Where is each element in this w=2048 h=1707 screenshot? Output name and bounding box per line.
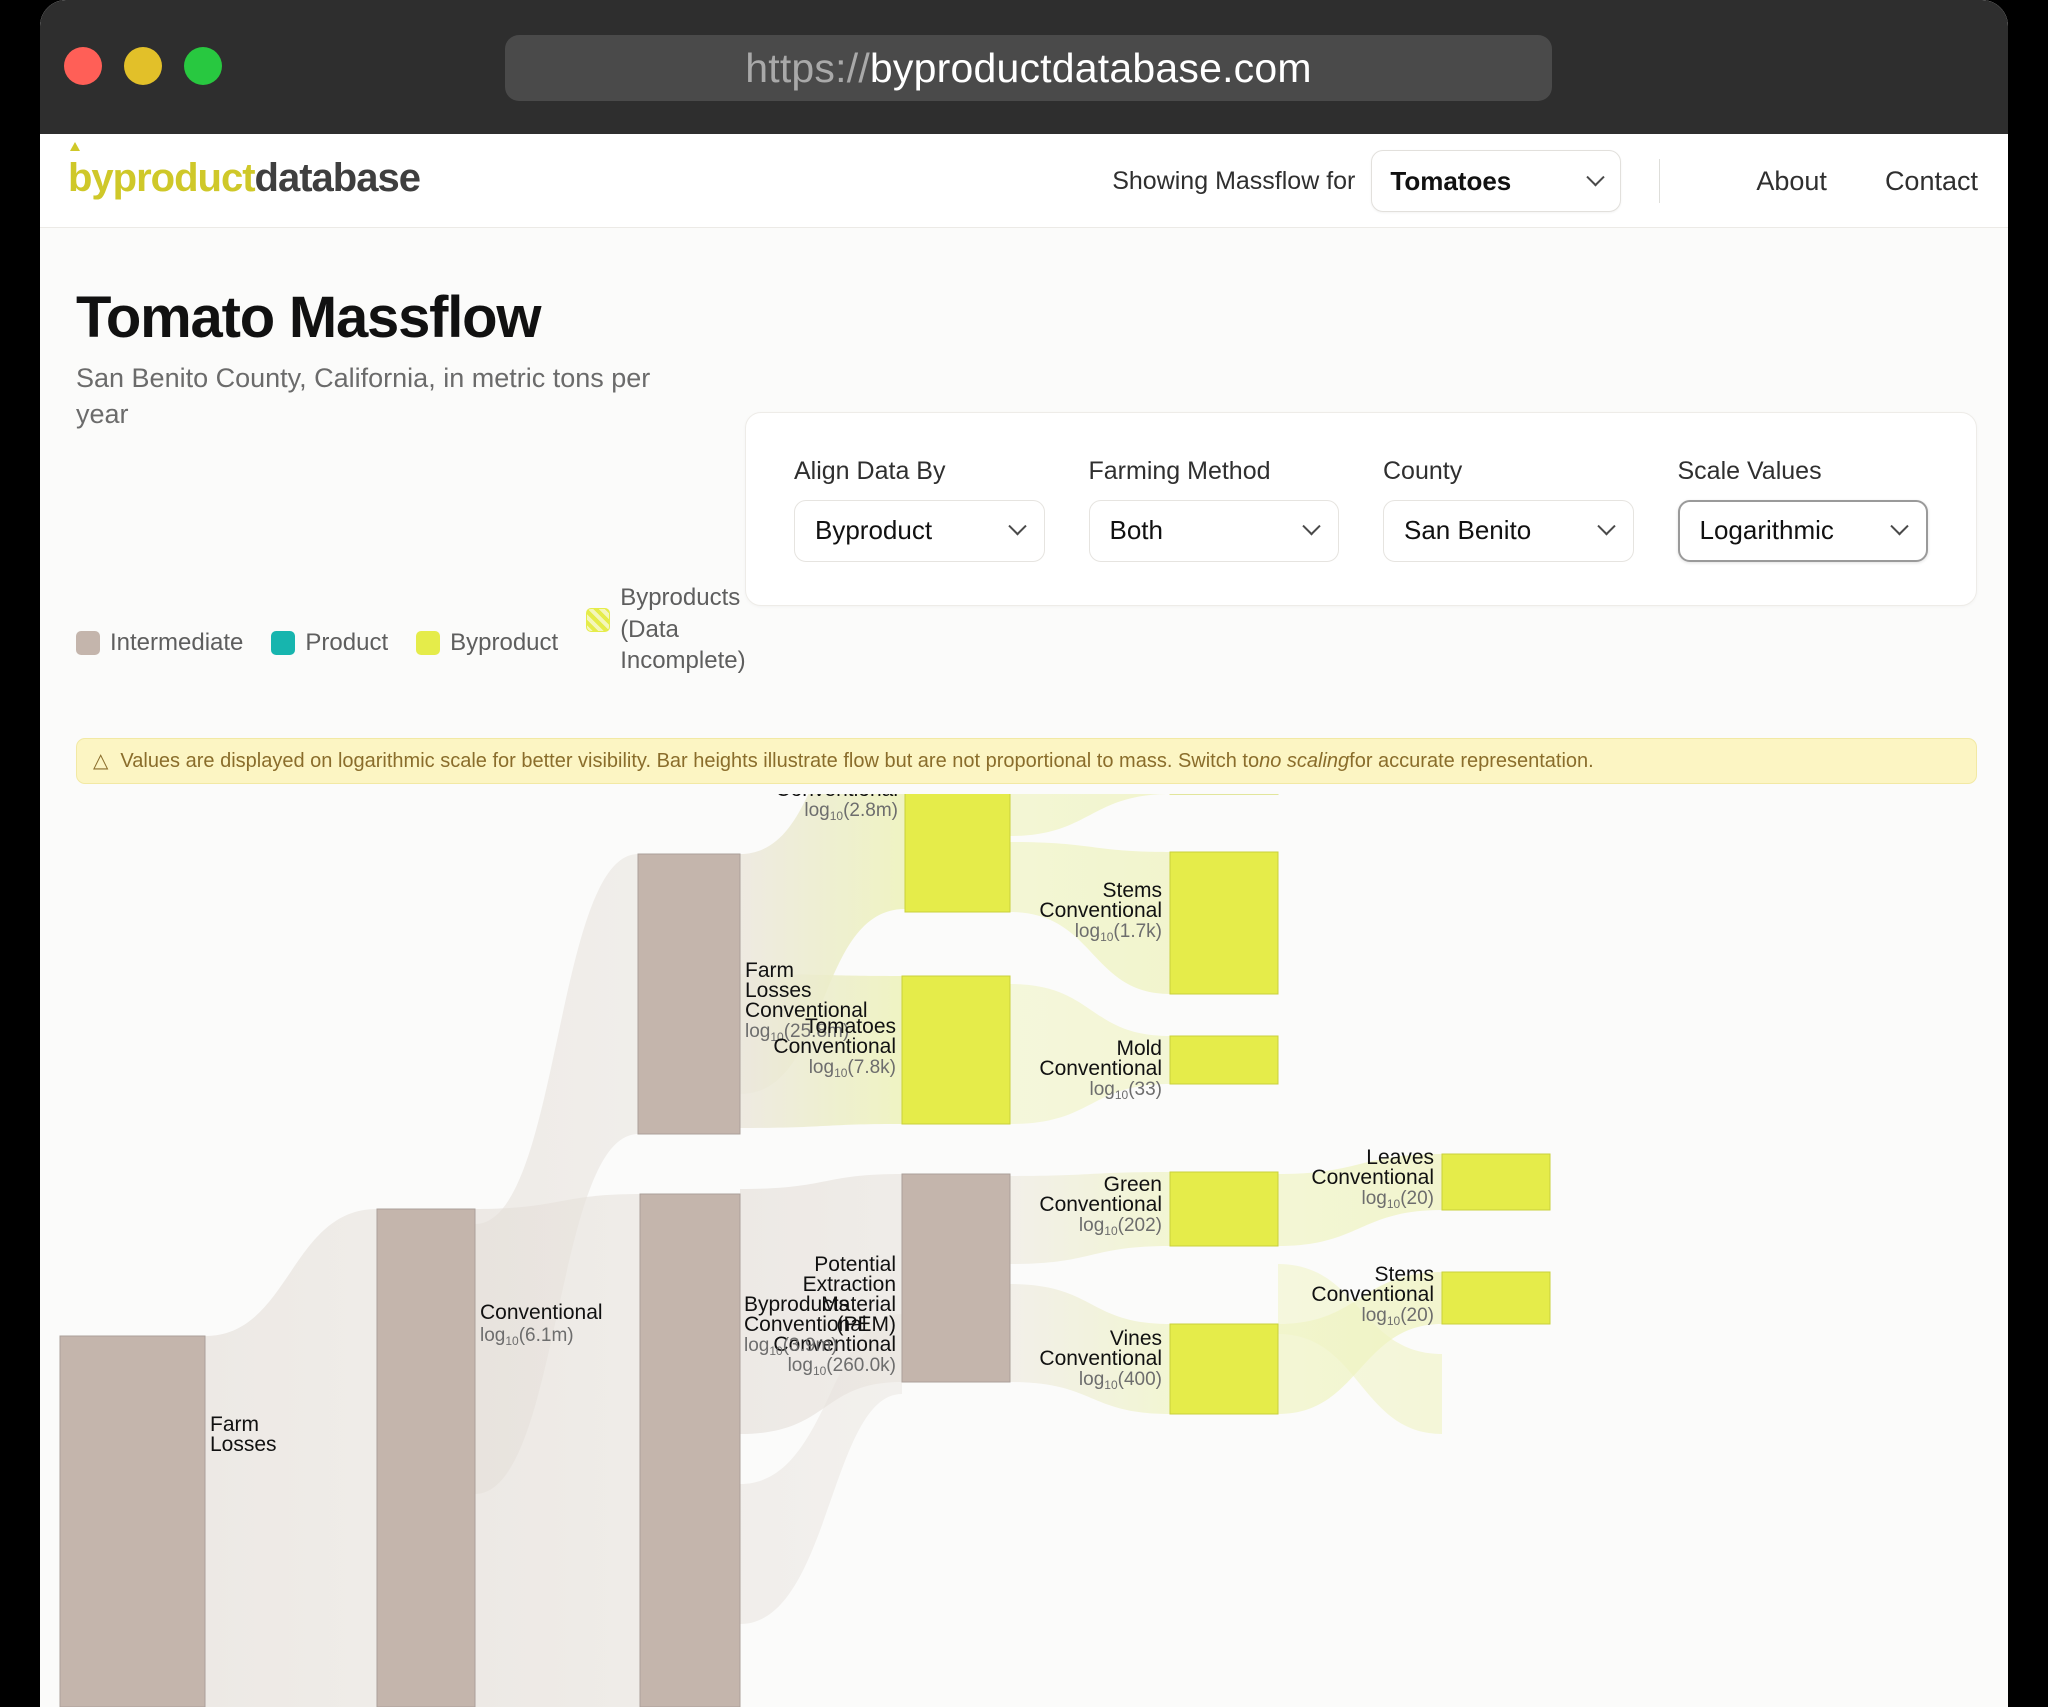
- legend-label-intermediate: Intermediate: [110, 629, 243, 657]
- chart-legend: Intermediate Product Byproduct Byproduct…: [76, 608, 770, 677]
- sankey-link: [205, 1209, 377, 1707]
- filter-align-data-by: Align Data By Byproduct: [794, 457, 1045, 562]
- node-label-tomatoes-line2: Conventional: [773, 1035, 896, 1058]
- legend-item-product: Product: [271, 629, 388, 657]
- minimize-button[interactable]: [124, 47, 162, 85]
- legend-label-byproduct: Byproduct: [450, 629, 558, 657]
- sankey-node-tomatoes-conventional[interactable]: [902, 976, 1010, 1124]
- node-label-stems-right-line2: Conventional: [1311, 1283, 1434, 1306]
- nav-link-about[interactable]: About: [1756, 166, 1827, 197]
- sankey-node-green-conventional[interactable]: [1170, 1172, 1278, 1246]
- sankey-node-vines-conventional-top[interactable]: [905, 794, 1010, 912]
- showing-massflow-label: Showing Massflow for: [1112, 167, 1355, 196]
- site-logo[interactable]: byproductdatabase: [68, 156, 420, 201]
- page-title: Tomato Massflow: [76, 284, 696, 351]
- chevron-down-icon: [1890, 517, 1908, 535]
- filter-value-county: San Benito: [1404, 515, 1531, 546]
- legend-swatch-product: [271, 631, 295, 655]
- url-host: byproductdatabase.com: [870, 45, 1312, 92]
- legend-label-byproducts-incomplete: Byproducts (Data Incomplete): [620, 582, 742, 677]
- legend-label-product: Product: [305, 629, 388, 657]
- node-label-stems-top-line2: Conventional: [1039, 899, 1162, 922]
- sankey-node-byproducts-conventional[interactable]: [640, 1194, 740, 1707]
- legend-swatch-byproduct: [416, 631, 440, 655]
- logo-arrow-icon: [70, 142, 80, 151]
- filter-select-align-data-by[interactable]: Byproduct: [794, 500, 1045, 562]
- legend-swatch-byproducts-incomplete: [586, 608, 610, 632]
- header-nav: Showing Massflow for Tomatoes About Cont…: [1112, 134, 1978, 228]
- sankey-svg: Vines Conventional log10(2.8m) Leaves Co…: [40, 794, 2008, 1707]
- filter-label-scale-values: Scale Values: [1678, 457, 1929, 486]
- node-value-green: log10(202): [1079, 1215, 1162, 1238]
- nav-link-contact[interactable]: Contact: [1885, 166, 1978, 197]
- node-value-stems-top: log10(1.7k): [1075, 921, 1162, 944]
- node-label-vines-bot-line2: Conventional: [1039, 1347, 1162, 1370]
- node-label-conventional-line1: Conventional: [480, 1301, 603, 1324]
- filter-label-farming-method: Farming Method: [1089, 457, 1340, 486]
- product-select-value: Tomatoes: [1390, 166, 1511, 197]
- nav-divider: [1659, 159, 1660, 203]
- site-header: byproductdatabase Showing Massflow for T…: [40, 134, 2008, 228]
- page-content: byproductdatabase Showing Massflow for T…: [40, 134, 2008, 1707]
- sankey-node-conventional[interactable]: [377, 1209, 475, 1707]
- sankey-node-stems-conventional-top[interactable]: [1170, 852, 1278, 994]
- node-label-byproducts-line2: Conventional: [744, 1313, 867, 1336]
- product-select[interactable]: Tomatoes: [1371, 150, 1621, 212]
- filter-label-align-data-by: Align Data By: [794, 457, 1045, 486]
- logo-database: database: [255, 156, 420, 201]
- url-scheme: https://: [745, 45, 870, 92]
- sankey-node-pem-conventional[interactable]: [902, 1174, 1010, 1382]
- filter-select-farming-method[interactable]: Both: [1089, 500, 1340, 562]
- notice-text-a: Values are displayed on logarithmic scal…: [120, 750, 1259, 773]
- node-label-leaves-right-line2: Conventional: [1311, 1166, 1434, 1189]
- filter-value-scale-values: Logarithmic: [1700, 515, 1834, 546]
- sankey-link: [1010, 794, 1170, 836]
- sankey-node-stems-conventional-right[interactable]: [1442, 1272, 1550, 1324]
- filter-panel: Align Data By Byproduct Farming Method B…: [745, 412, 1977, 606]
- browser-window: https://byproductdatabase.com byproductd…: [40, 0, 2008, 1707]
- node-label-mold-line2: Conventional: [1039, 1057, 1162, 1080]
- browser-titlebar: https://byproductdatabase.com: [40, 0, 2008, 134]
- address-bar[interactable]: https://byproductdatabase.com: [505, 35, 1552, 101]
- filter-farming-method: Farming Method Both: [1089, 457, 1340, 562]
- log-scale-notice: △ Values are displayed on logarithmic sc…: [76, 738, 1977, 784]
- sankey-node-mold-conventional[interactable]: [1170, 1036, 1278, 1084]
- warning-triangle-icon: △: [93, 751, 108, 771]
- window-controls: [64, 47, 222, 85]
- sankey-node-vines-conventional-bottom[interactable]: [1170, 1324, 1278, 1414]
- notice-text-b: for accurate representation.: [1349, 750, 1594, 773]
- node-value-byproducts: log10(3.9m): [744, 1335, 838, 1358]
- filter-value-farming-method: Both: [1110, 515, 1164, 546]
- chevron-down-icon: [1008, 517, 1026, 535]
- node-value-conventional: log10(6.1m): [480, 1325, 574, 1348]
- node-label-farm-losses-left-line2: Losses: [210, 1433, 277, 1456]
- legend-swatch-intermediate: [76, 631, 100, 655]
- sankey-diagram: Vines Conventional log10(2.8m) Leaves Co…: [40, 794, 2008, 1707]
- filter-select-county[interactable]: San Benito: [1383, 500, 1634, 562]
- filter-county: County San Benito: [1383, 457, 1634, 562]
- chevron-down-icon: [1597, 517, 1615, 535]
- maximize-button[interactable]: [184, 47, 222, 85]
- node-label-green-line2: Conventional: [1039, 1193, 1162, 1216]
- filter-value-align-data-by: Byproduct: [815, 515, 932, 546]
- filter-label-county: County: [1383, 457, 1634, 486]
- close-button[interactable]: [64, 47, 102, 85]
- filter-select-scale-values[interactable]: Logarithmic: [1678, 500, 1929, 562]
- node-value-vines-bot: log10(400): [1079, 1369, 1162, 1392]
- chevron-down-icon: [1587, 168, 1605, 186]
- sankey-node-farm-losses-left[interactable]: [60, 1336, 205, 1707]
- legend-item-byproducts-incomplete: Byproducts (Data Incomplete): [586, 608, 742, 677]
- logo-byproduct: byproduct: [68, 156, 255, 201]
- page-title-block: Tomato Massflow San Benito County, Calif…: [76, 284, 696, 432]
- filter-scale-values: Scale Values Logarithmic: [1678, 457, 1929, 562]
- sankey-node-leaves-conventional-right[interactable]: [1442, 1154, 1550, 1210]
- legend-item-intermediate: Intermediate: [76, 629, 243, 657]
- node-value-vines-top: log10(2.8m): [804, 800, 898, 823]
- sankey-node-farm-losses-conventional[interactable]: [638, 854, 740, 1134]
- node-value-pem: log10(260.0k): [788, 1355, 896, 1378]
- page-subtitle: San Benito County, California, in metric…: [76, 361, 696, 432]
- notice-emphasis: no scaling: [1259, 750, 1349, 773]
- legend-item-byproduct: Byproduct: [416, 629, 558, 657]
- node-value-tomatoes: log10(7.8k): [809, 1057, 896, 1080]
- chevron-down-icon: [1302, 517, 1320, 535]
